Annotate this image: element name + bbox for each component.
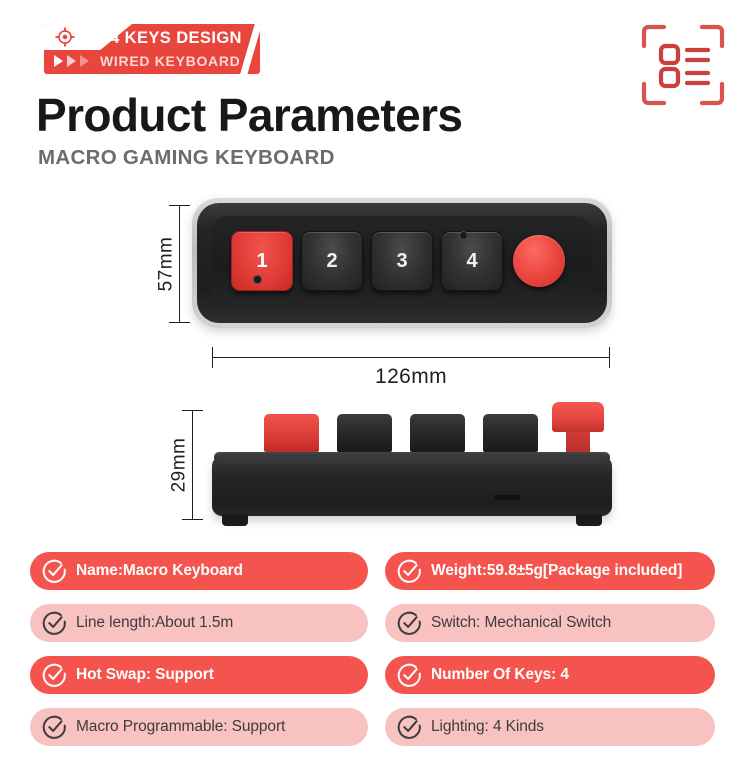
spec-pill: Lighting: 4 Kinds xyxy=(385,708,715,746)
scan-list-icon xyxy=(640,22,726,108)
circle-check-icon xyxy=(42,559,67,584)
circle-check-icon xyxy=(397,715,422,740)
crosshair-target-icon xyxy=(54,26,76,48)
circle-check-icon xyxy=(397,663,422,688)
keycap-row: 1 2 3 4 xyxy=(231,231,503,291)
dim-line xyxy=(212,357,610,358)
dim-line xyxy=(192,410,193,520)
circle-check-icon xyxy=(397,559,422,584)
led-indicator-left xyxy=(253,275,262,284)
spec-pill-label: Line length:About 1.5m xyxy=(76,614,233,632)
keyboard-outer-shell: 1 2 3 4 xyxy=(192,198,612,328)
spec-pill-label: Hot Swap: Support xyxy=(76,666,214,684)
rotary-knob-top xyxy=(513,235,565,287)
dim-cap-bottom xyxy=(182,519,203,520)
side-port xyxy=(494,495,520,500)
side-keycap-2 xyxy=(337,414,392,452)
infographic-page: 4 KEYS DESIGN WIRED KEYBOARD xyxy=(0,0,750,750)
spec-pill-label: Weight:59.8±5g[Package included] xyxy=(431,562,682,580)
keycap-3: 3 xyxy=(371,231,433,291)
spec-pill-label: Lighting: 4 Kinds xyxy=(431,718,544,736)
keyboard-side-view xyxy=(212,400,612,530)
dimension-width-126: 126mm xyxy=(212,345,610,387)
page-subtitle: MACRO GAMING KEYBOARD xyxy=(38,146,335,170)
spec-pill-label: Number Of Keys: 4 xyxy=(431,666,569,684)
spec-pill: Name:Macro Keyboard xyxy=(30,552,368,590)
keycap-1: 1 xyxy=(231,231,293,291)
side-foot-left xyxy=(222,514,248,526)
dimension-label-57: 57mm xyxy=(155,237,177,292)
spec-pill: Number Of Keys: 4 xyxy=(385,656,715,694)
side-keycap-1 xyxy=(264,414,319,452)
dim-line xyxy=(179,205,180,323)
dimension-label-29: 29mm xyxy=(168,438,190,493)
badge-subtitle: WIRED KEYBOARD xyxy=(100,53,240,69)
product-badge: 4 KEYS DESIGN WIRED KEYBOARD xyxy=(44,24,260,74)
page-title: Product Parameters xyxy=(36,88,462,142)
circle-check-icon xyxy=(42,611,67,636)
side-base-body xyxy=(212,456,612,516)
spec-pill-label: Macro Programmable: Support xyxy=(76,718,285,736)
side-keycap-3 xyxy=(410,414,465,452)
dimension-label-126: 126mm xyxy=(212,365,610,389)
led-indicator-right xyxy=(459,231,468,240)
badge-subtitle-row: WIRED KEYBOARD xyxy=(52,50,258,72)
arrow-triangles-icon xyxy=(54,55,89,67)
dimension-height-29: 29mm xyxy=(180,410,206,520)
spec-pill: Hot Swap: Support xyxy=(30,656,368,694)
keycap-4: 4 xyxy=(441,231,503,291)
spec-grid: Name:Macro KeyboardWeight:59.8±5g[Packag… xyxy=(30,552,730,760)
circle-check-icon xyxy=(42,715,67,740)
circle-check-icon xyxy=(42,663,67,688)
keyboard-top-view: 1 2 3 4 xyxy=(192,198,612,328)
rotary-knob-side xyxy=(552,402,604,432)
keycap-2: 2 xyxy=(301,231,363,291)
side-foot-right xyxy=(576,514,602,526)
circle-check-icon xyxy=(397,611,422,636)
spec-list: Name:Macro KeyboardWeight:59.8±5g[Packag… xyxy=(30,552,730,760)
rotary-knob-stem xyxy=(566,430,590,452)
spec-pill: Weight:59.8±5g[Package included] xyxy=(385,552,715,590)
badge-title: 4 KEYS DESIGN xyxy=(96,26,256,50)
dimension-height-57: 57mm xyxy=(167,205,193,323)
spec-pill: Macro Programmable: Support xyxy=(30,708,368,746)
spec-pill-label: Name:Macro Keyboard xyxy=(76,562,243,580)
spec-pill-label: Switch: Mechanical Switch xyxy=(431,614,611,632)
side-keycap-4 xyxy=(483,414,538,452)
spec-pill: Line length:About 1.5m xyxy=(30,604,368,642)
keyboard-body: 1 2 3 4 xyxy=(197,203,607,323)
dim-cap-bottom xyxy=(169,322,190,323)
spec-pill: Switch: Mechanical Switch xyxy=(385,604,715,642)
